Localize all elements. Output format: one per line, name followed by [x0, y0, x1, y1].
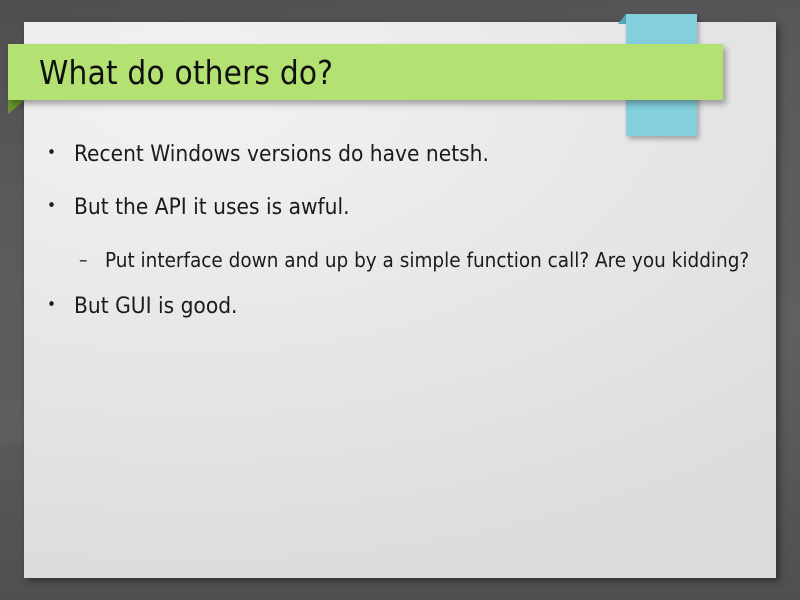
list-item-label: Recent Windows versions do have netsh.	[74, 140, 776, 169]
page-title: What do others do?	[8, 53, 333, 92]
sub-list-item-label: Put interface down and up by a simple fu…	[105, 247, 765, 275]
bullet-marker-dot: •	[44, 193, 74, 221]
list-item: • But the API it uses is awful.	[24, 193, 776, 222]
title-banner: What do others do?	[8, 44, 723, 100]
bullet-marker-dot: •	[44, 140, 74, 168]
title-banner-fold-shape	[8, 100, 25, 114]
blue-accent-notch-shape	[618, 14, 626, 24]
sub-list-item: – Put interface down and up by a simple …	[24, 247, 769, 275]
list-item-label: But GUI is good.	[74, 292, 776, 321]
slide-body-content: • Recent Windows versions do have netsh.…	[24, 140, 776, 346]
bullet-marker-dash: –	[79, 247, 105, 274]
list-item: • But GUI is good.	[24, 292, 776, 321]
list-item-label: But the API it uses is awful.	[74, 193, 776, 222]
list-item: • Recent Windows versions do have netsh.	[24, 140, 776, 169]
bullet-marker-dot: •	[44, 292, 74, 320]
presentation-slide: What do others do? • Recent Windows vers…	[0, 0, 800, 600]
